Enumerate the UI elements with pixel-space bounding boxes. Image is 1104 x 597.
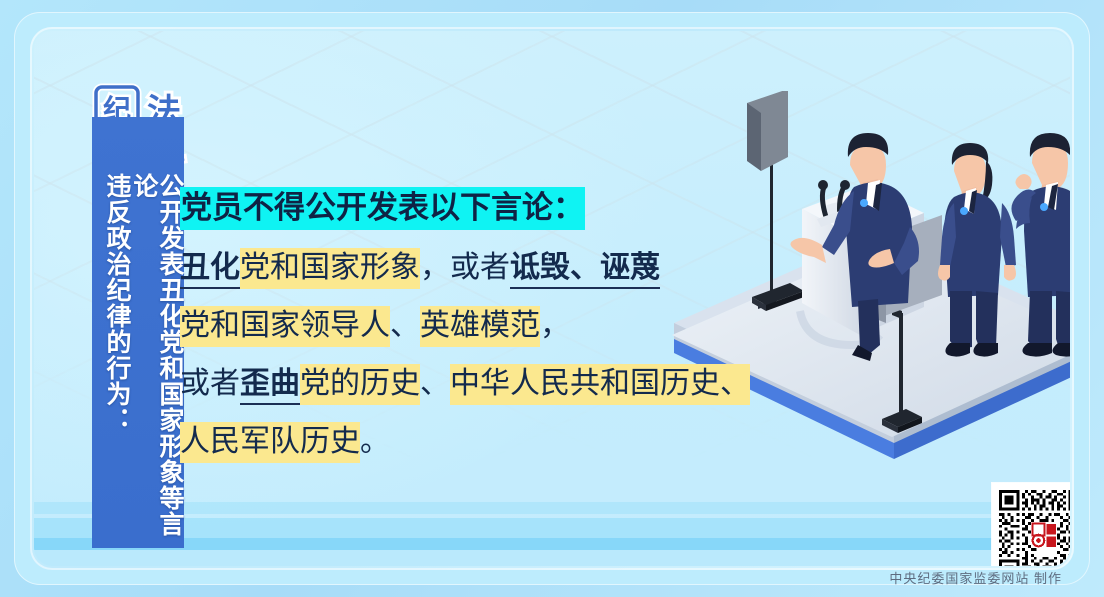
banner-column-left: 违反政治纪律的行为：: [103, 173, 129, 548]
body-segment: 诋毁、诬蔑: [510, 251, 660, 289]
body-segment: 中华人民共和国历史、: [450, 364, 750, 405]
poster-root: 纪 法 科 公开发表丑化党和国家形象等言论 违反政治纪律的行为： 党员不得公开: [0, 0, 1104, 597]
body-line: 人民军队历史。: [180, 427, 800, 457]
body-segment: 党和国家形象: [240, 248, 420, 289]
body-segment: ，或者: [420, 251, 510, 284]
body-segment: 党的历史: [300, 364, 420, 405]
body-line: 或者歪曲党的历史、中华人民共和国历史、: [180, 369, 800, 399]
body-segment: ，: [540, 309, 570, 342]
floor-band-4: [34, 550, 1070, 566]
banner-column-right: 公开发表丑化党和国家形象等言论: [130, 173, 182, 548]
body-segment: 人民军队历史: [180, 422, 360, 463]
body-line: 丑化党和国家形象，或者诋毁、诬蔑: [180, 253, 800, 283]
floor-band-1: [34, 502, 1070, 514]
main-copy: 党员不得公开发表以下言论： 丑化党和国家形象，或者诋毁、诬蔑 党和国家领导人、英…: [180, 193, 800, 485]
vertical-banner: 公开发表丑化党和国家形象等言论 违反政治纪律的行为：: [92, 117, 184, 548]
headline: 党员不得公开发表以下言论：: [180, 193, 800, 223]
qr-code[interactable]: [992, 483, 1070, 566]
floor-band-3: [34, 538, 1070, 550]
footer-credit: 中央纪委国家监委网站 制作: [889, 568, 1062, 587]
body-segment: 。: [360, 425, 390, 458]
poster-canvas: 纪 法 科 公开发表丑化党和国家形象等言论 违反政治纪律的行为： 党员不得公开: [34, 31, 1070, 566]
body-segment: 或者: [180, 367, 240, 400]
body-line: 党和国家领导人、英雄模范，: [180, 311, 800, 341]
body-segment: 歪曲: [240, 367, 300, 405]
body-segment: 、: [420, 367, 450, 400]
body-segment: 党和国家领导人: [180, 306, 390, 347]
body-segment: 、: [390, 309, 420, 342]
body-segment: 丑化: [180, 251, 240, 289]
headline-text: 党员不得公开发表以下言论：: [180, 187, 585, 230]
body-segment: 英雄模范: [420, 306, 540, 347]
floor-band-2: [34, 518, 1070, 538]
